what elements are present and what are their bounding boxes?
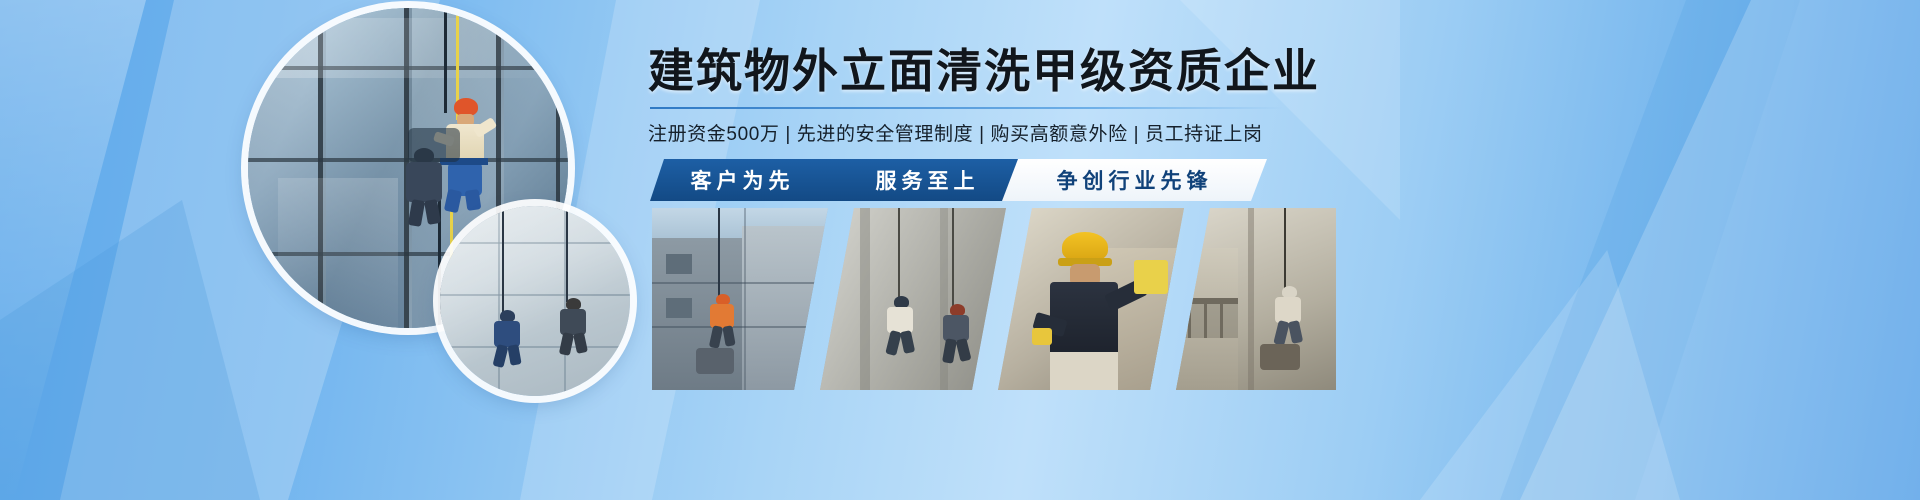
slogan-industry-pioneer: 争创行业先锋 [1057, 165, 1213, 195]
slogan-ribbon-light: 争创行业先锋 [1002, 159, 1267, 201]
strip-photo-3 [998, 208, 1184, 390]
banner-text-block: 建筑物外立面清洗甲级资质企业 注册资金500万 | 先进的安全管理制度 | 购买… [648, 44, 1308, 146]
strip-photo-1 [652, 208, 828, 390]
background-shape-right-3 [1420, 250, 1680, 500]
background-shape-left-3 [0, 200, 260, 500]
page-title: 建筑物外立面清洗甲级资质企业 [648, 44, 1308, 98]
strip-photo-2 [820, 208, 1006, 390]
background-shape-right-2 [1500, 0, 1800, 500]
slogan-service-supreme: 服务至上 [876, 165, 980, 195]
strip-photo-4 [1176, 208, 1336, 390]
slogan-ribbon: 客户为先 服务至上 争创行业先锋 [650, 159, 1265, 201]
promotional-banner: 建筑物外立面清洗甲级资质企业 注册资金500万 | 先进的安全管理制度 | 购买… [0, 0, 1920, 500]
slogan-ribbon-dark: 客户为先 服务至上 [650, 159, 1020, 201]
background-shape-right-1 [1520, 0, 1920, 500]
banner-subtitle: 注册资金500万 | 先进的安全管理制度 | 购买高额意外险 | 员工持证上岗 [648, 119, 1308, 146]
slogan-customer-first: 客户为先 [691, 165, 795, 195]
circle-photo-panel-facade-workers [440, 206, 630, 396]
photo-strip [652, 208, 1272, 390]
background-shape-left-1 [0, 0, 260, 500]
title-divider [650, 107, 1284, 109]
